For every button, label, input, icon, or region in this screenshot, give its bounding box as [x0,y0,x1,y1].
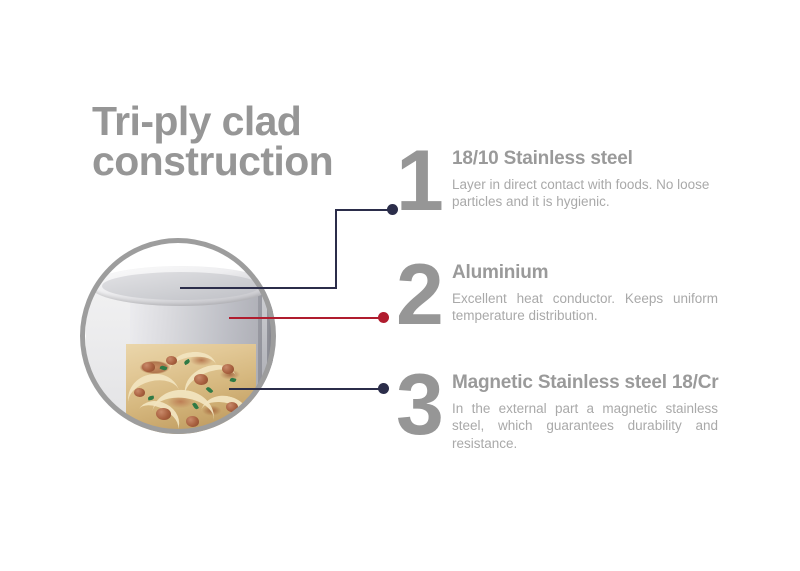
layer-heading-2: Aluminium [452,262,548,284]
connector-1-lower-horizontal [180,287,337,289]
layer-description-2: Excellent heat conductor. Keeps uniform … [452,290,718,325]
connector-3-horizontal [229,388,383,390]
connector-1-vertical [335,209,337,289]
page-title: Tri-ply clad construction [92,101,402,181]
connector-1-upper-horizontal [335,209,392,211]
layer-number-3: 3 [396,372,442,439]
layer-description-3: In the external part a magnetic stainles… [452,400,718,452]
connector-line-1 [180,209,394,291]
connector-line-3 [229,388,383,390]
layer-number-2: 2 [396,262,442,329]
layer-heading-3: Magnetic Stainless steel 18/Cr [452,372,718,394]
connector-dot-2 [378,312,389,323]
connector-2-horizontal [229,317,383,319]
connector-dot-3 [378,383,389,394]
layer-number-1: 1 [396,148,442,215]
connector-line-2 [229,317,383,319]
infographic-canvas: Tri-ply clad construction [0,0,800,571]
layer-description-1: Layer in direct contact with foods. No l… [452,176,718,211]
layer-heading-1: 18/10 Stainless steel [452,148,633,170]
